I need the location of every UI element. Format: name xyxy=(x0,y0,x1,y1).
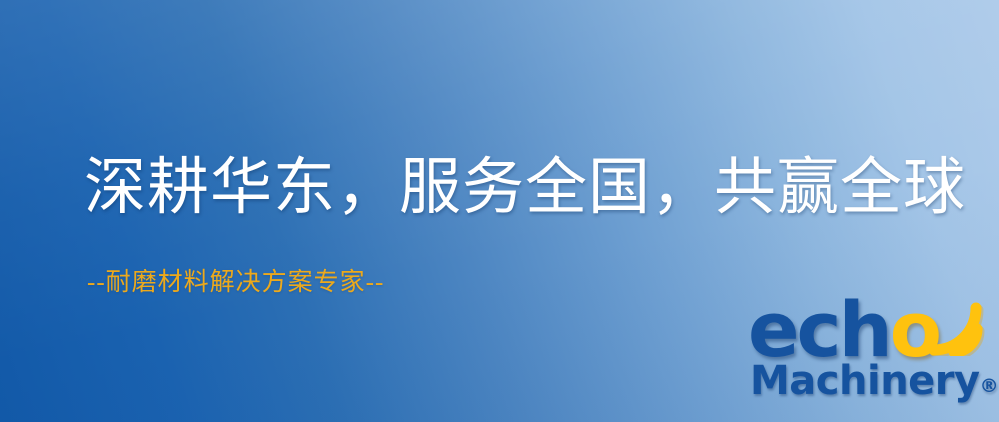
banner-headline: 深耕华东，服务全国，共赢全球 xyxy=(84,152,966,224)
registered-trademark-icon: ® xyxy=(980,375,999,397)
echo-wifi-arcs-icon xyxy=(920,294,994,356)
logo-brand-text: echo xyxy=(748,292,939,368)
banner-subtitle: --耐磨材料解决方案专家-- xyxy=(87,268,384,298)
promo-banner: 深耕华东，服务全国，共赢全球 --耐磨材料解决方案专家-- echo Machi… xyxy=(0,0,999,422)
logo-tagline: Machinery® xyxy=(750,358,999,409)
echo-machinery-logo[interactable]: echo Machinery® xyxy=(744,296,996,420)
logo-tagline-text: Machinery xyxy=(750,358,980,404)
